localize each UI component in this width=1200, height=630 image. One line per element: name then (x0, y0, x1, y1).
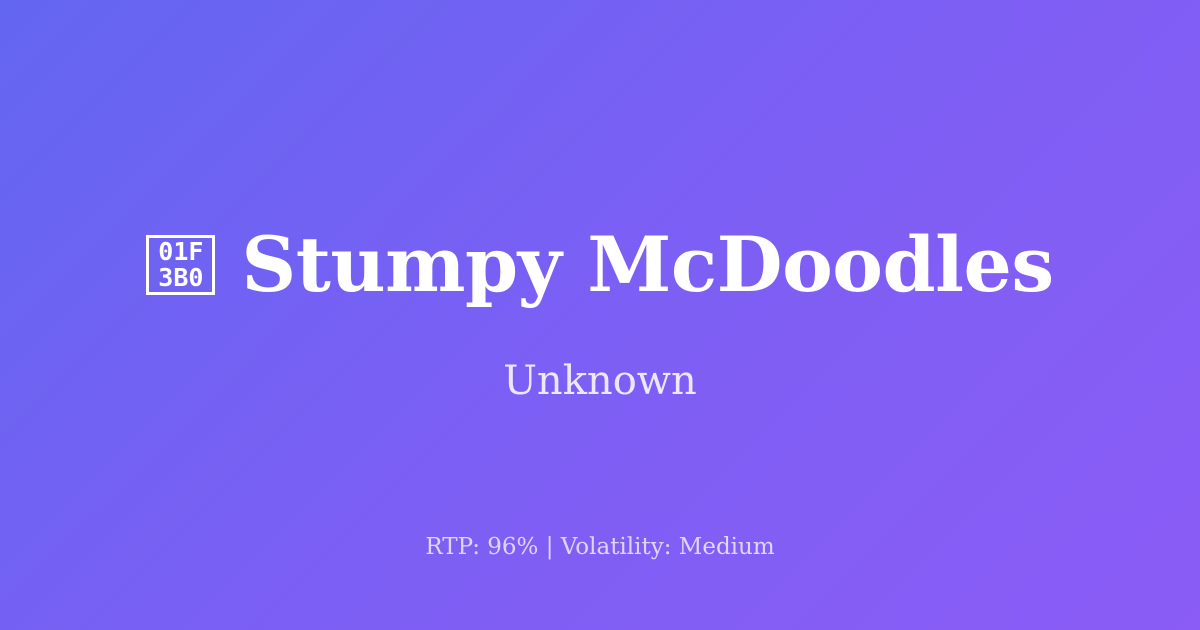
game-preview-card: 01F 3B0 Stumpy McDoodles Unknown RTP: 96… (0, 0, 1200, 630)
glyph-hex-row-bottom: 3B0 (158, 265, 203, 291)
game-provider: Unknown (503, 357, 697, 405)
title-row: 01F 3B0 Stumpy McDoodles (0, 225, 1200, 305)
game-title: Stumpy McDoodles (241, 225, 1053, 305)
meta-text: RTP: 96% | Volatility: Medium (425, 534, 774, 560)
game-meta-line: RTP: 96% | Volatility: Medium (0, 534, 1200, 562)
glyph-hex-row-top: 01F (158, 239, 203, 265)
slot-machine-icon: 01F 3B0 (146, 235, 215, 295)
